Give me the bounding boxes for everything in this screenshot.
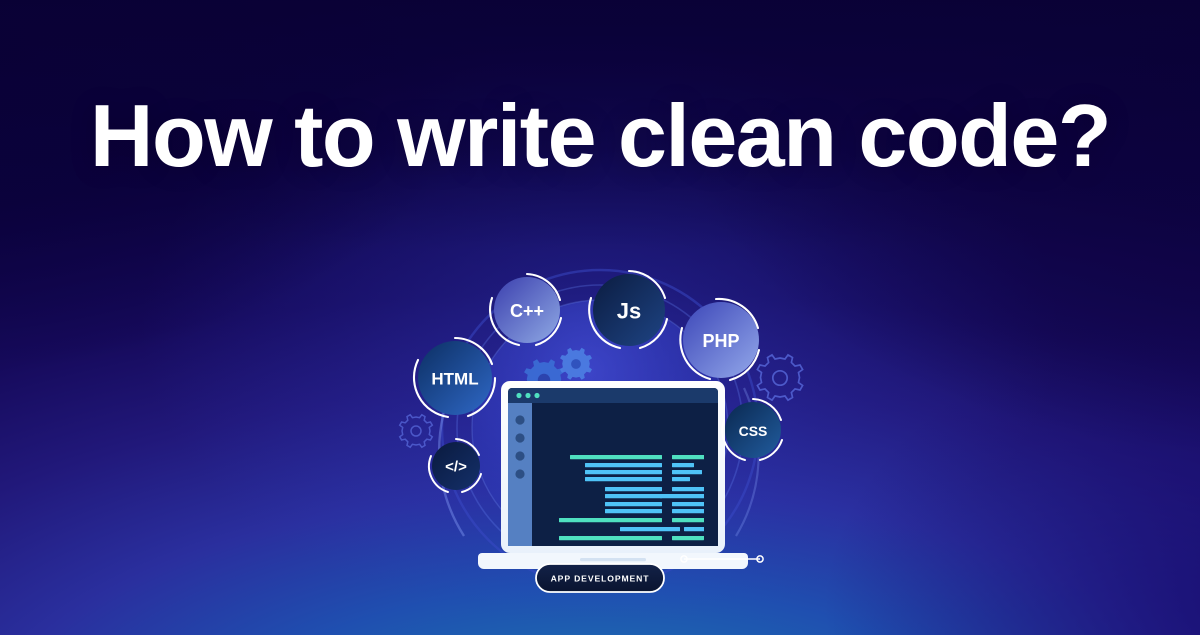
app-development-illustration: APP DEVELOPMENT HTML C++ Js PHP CSS bbox=[364, 268, 836, 608]
tech-badge-html-label: HTML bbox=[431, 370, 478, 389]
tech-badge-php-label: PHP bbox=[702, 331, 739, 351]
code-line bbox=[605, 494, 662, 498]
code-line bbox=[672, 463, 694, 467]
tech-badge-code-label: </> bbox=[445, 459, 467, 476]
app-development-pill[interactable]: APP DEVELOPMENT bbox=[536, 564, 664, 592]
code-line bbox=[585, 470, 662, 474]
gear-outline-right bbox=[757, 355, 802, 400]
code-line bbox=[672, 578, 716, 582]
page-title: How to write clean code? bbox=[0, 92, 1200, 180]
code-line bbox=[585, 477, 662, 481]
gear-outline-left bbox=[400, 415, 433, 448]
code-line bbox=[585, 463, 662, 467]
code-line bbox=[570, 455, 662, 459]
code-line bbox=[620, 527, 680, 531]
tech-badge-cpp-label: C++ bbox=[510, 301, 544, 321]
code-line bbox=[605, 502, 662, 506]
laptop bbox=[478, 381, 748, 582]
code-line bbox=[605, 487, 662, 491]
code-line bbox=[559, 518, 662, 522]
code-line bbox=[672, 477, 690, 481]
code-line bbox=[672, 570, 732, 574]
code-line bbox=[559, 536, 662, 540]
window-dots bbox=[516, 393, 539, 398]
code-line bbox=[605, 509, 662, 513]
app-development-pill-label: APP DEVELOPMENT bbox=[551, 574, 650, 584]
code-line bbox=[672, 470, 702, 474]
tech-badge-css[interactable]: CSS bbox=[722, 399, 782, 460]
tech-badge-css-label: CSS bbox=[739, 423, 768, 439]
tech-badge-code[interactable]: </> bbox=[429, 439, 481, 492]
tech-badge-js-label: Js bbox=[617, 299, 641, 324]
